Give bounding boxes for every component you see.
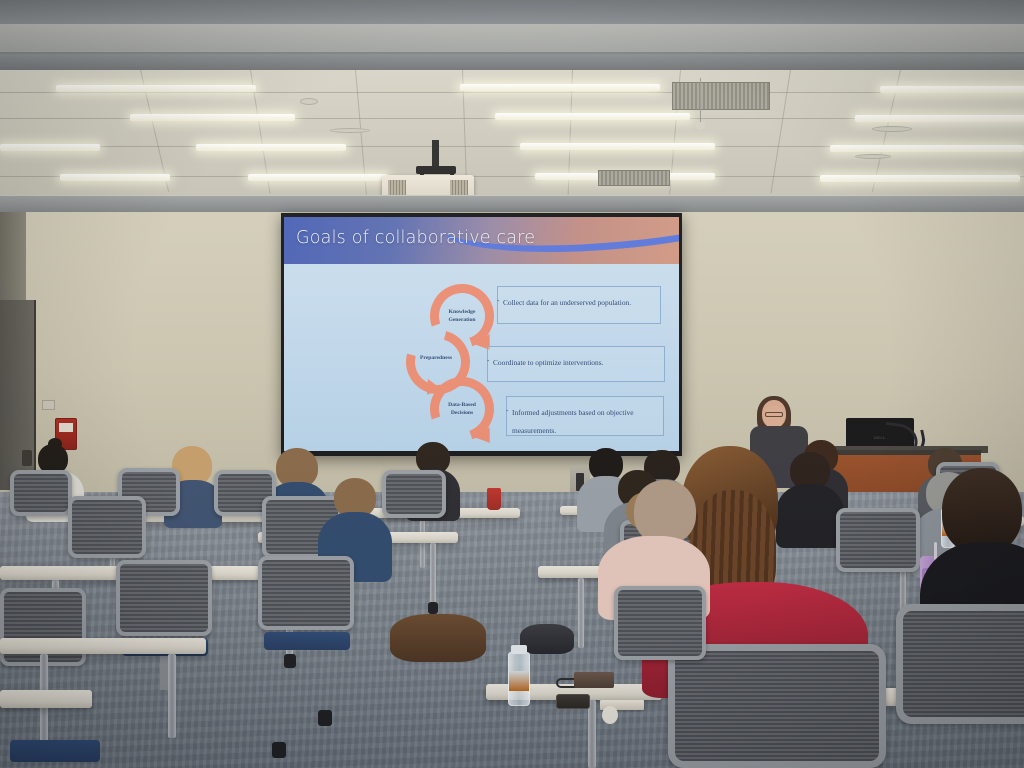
fluorescent-light: [520, 143, 715, 150]
step-callout-3-text: Informed adjustments based on objective …: [512, 408, 634, 435]
table-caster: [428, 602, 438, 614]
projector-mount-pole: [432, 140, 439, 168]
table-caster: [272, 742, 286, 758]
table-leg: [420, 518, 425, 568]
slide-title-banner: Goals of collaborative care: [284, 217, 679, 264]
torso: [776, 484, 844, 548]
backpack: [520, 624, 574, 654]
fluorescent-light: [56, 85, 256, 92]
wallet: [574, 672, 614, 688]
step-label-2: Preparedness: [400, 354, 472, 362]
head: [634, 480, 696, 544]
projection-screen: Goals of collaborative care Knowledge Ge…: [281, 213, 682, 456]
red-cup: [487, 488, 501, 510]
smoke-detector: [855, 154, 891, 159]
ceiling-soffit-band-lower: [0, 54, 1024, 70]
fluorescent-light: [855, 115, 1024, 122]
table-leg: [578, 578, 584, 648]
fluorescent-light: [196, 144, 346, 151]
fluorescent-light: [0, 144, 100, 151]
slide-body: Knowledge Generation - Collect data for …: [284, 264, 679, 451]
classroom-scene: Goals of collaborative care Knowledge Ge…: [0, 0, 1024, 768]
pendant-light: [696, 122, 705, 130]
pendant-wire: [700, 78, 701, 123]
hvac-vent: [598, 170, 670, 186]
ceiling: [0, 0, 1024, 212]
step-callout-3: - Informed adjustments based on objectiv…: [506, 396, 664, 436]
step-label-3: Data-Based Decisions: [426, 401, 498, 417]
ceiling-soffit-band: [0, 24, 1024, 54]
light-switch[interactable]: [42, 400, 55, 410]
door-handle[interactable]: [22, 450, 32, 466]
ceiling-beam-top: [0, 0, 1024, 24]
table-leg: [588, 700, 596, 768]
classroom-table: [0, 690, 92, 708]
backpack: [390, 614, 486, 662]
fluorescent-light: [830, 145, 1024, 152]
step-label-1-line1: Knowledge: [426, 308, 498, 316]
fluorescent-light: [880, 86, 1024, 93]
ceiling-tile-field: [0, 70, 1024, 195]
ceiling-soffit-front: [0, 195, 1024, 212]
fluorescent-light: [130, 114, 295, 121]
bullet-dash-icon: -: [497, 296, 499, 305]
slide-title: Goals of collaborative care: [296, 228, 535, 248]
table-caster: [318, 710, 332, 726]
step-label-2-line1: Preparedness: [400, 354, 472, 362]
step-callout-1-text: Collect data for an underserved populati…: [503, 298, 631, 307]
fluorescent-light: [495, 113, 690, 120]
presenter-glasses-icon: [765, 412, 783, 417]
table-leg: [430, 543, 436, 605]
bullet-dash-icon: -: [506, 406, 508, 415]
smartphone: [556, 694, 590, 709]
hvac-vent: [672, 82, 770, 110]
step-label-3-line1: Data-Based: [426, 401, 498, 409]
table-caster: [284, 654, 296, 668]
step-callout-2: - Coordinate to optimize interventions.: [487, 346, 665, 382]
smoke-detector: [300, 98, 318, 105]
step-callout-2-text: Coordinate to optimize interventions.: [493, 358, 603, 367]
smoke-detector: [872, 126, 912, 132]
step-label-1: Knowledge Generation: [426, 308, 498, 324]
classroom-table: [0, 638, 206, 654]
water-bottle: [508, 652, 530, 706]
step-callout-1: - Collect data for an underserved popula…: [497, 286, 661, 324]
smoke-detector: [330, 128, 370, 133]
presenter-face: [764, 406, 784, 428]
step-label-1-line2: Generation: [426, 316, 498, 324]
fluorescent-light: [460, 84, 660, 91]
computer-mouse[interactable]: [602, 706, 618, 724]
fluorescent-light: [820, 175, 1020, 182]
fluorescent-light: [60, 174, 170, 181]
step-label-3-line2: Decisions: [426, 409, 498, 417]
bullet-dash-icon: -: [487, 356, 489, 365]
fluorescent-light: [248, 174, 388, 181]
presentation-slide: Goals of collaborative care Knowledge Ge…: [284, 217, 679, 451]
table-leg: [168, 654, 176, 738]
